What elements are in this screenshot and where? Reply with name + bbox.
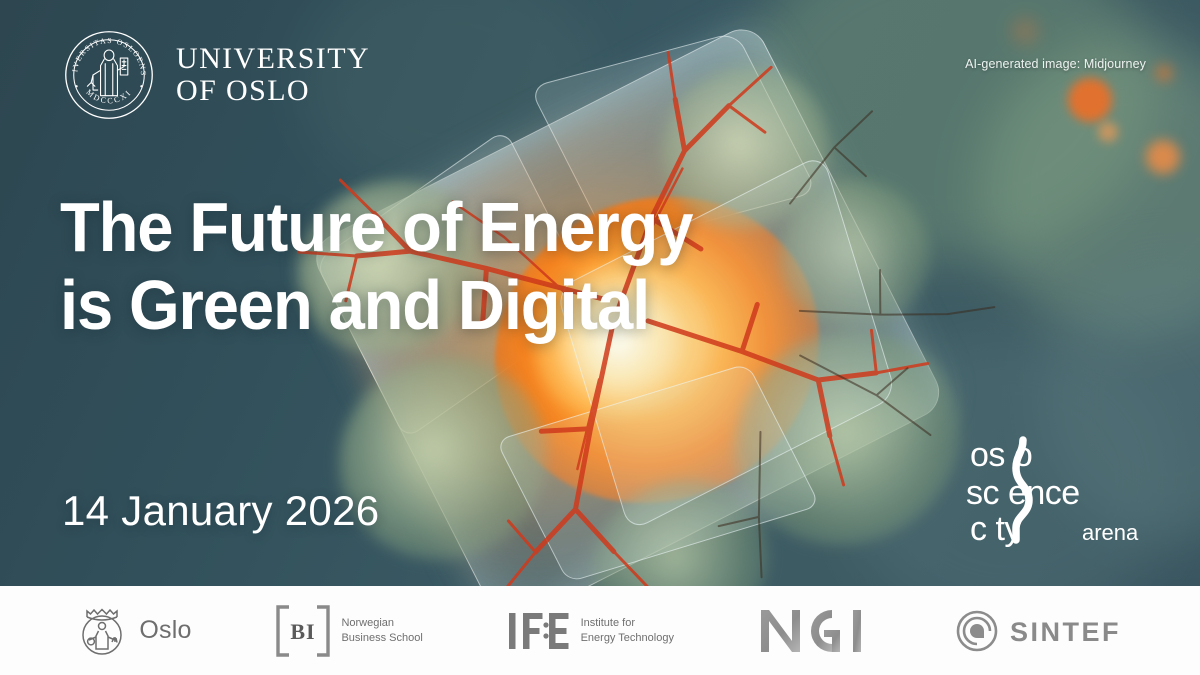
partner-logo-ife[interactable]: Institute for Energy Technology <box>508 611 674 651</box>
svg-text:BI: BI <box>291 619 316 644</box>
partner-label-oslo: Oslo <box>139 616 191 645</box>
partner-logo-bi[interactable]: BI Norwegian Business School <box>276 605 422 657</box>
svg-text:MDCCCXI: MDCCCXI <box>84 88 133 106</box>
oslo-science-city-arena-logo: os o sc ence c ty arena <box>966 436 1156 548</box>
bokeh-orange-5 <box>1012 18 1038 44</box>
bokeh-orange-3 <box>1098 122 1118 142</box>
sintef-wordmark: SINTEF <box>1010 617 1121 647</box>
university-of-oslo-logo: UNIVERSITAS OSLOENSIS MDCCCXI <box>62 28 370 122</box>
bi-bracket-icon: BI <box>276 605 330 657</box>
uio-seal-icon: UNIVERSITAS OSLOENSIS MDCCCXI <box>62 28 156 122</box>
partner-logo-bar: Oslo BI Norwegian Business School <box>0 586 1200 675</box>
partner-label-ife: Institute for Energy Technology <box>581 616 674 644</box>
oslo-coat-of-arms-icon <box>76 604 128 658</box>
partner-label-bi: Norwegian Business School <box>341 616 422 644</box>
partner-logo-oslo-kommune[interactable]: Oslo <box>76 604 191 658</box>
ngi-icon <box>759 608 871 654</box>
bokeh-orange-2 <box>1146 140 1180 174</box>
page-title: The Future of Energy is Green and Digita… <box>60 188 925 345</box>
event-poster: UNIVERSITAS OSLOENSIS MDCCCXI <box>0 0 1200 675</box>
osc-logo-icon: os o sc ence c ty arena <box>966 436 1156 548</box>
svg-text:arena: arena <box>1082 520 1139 545</box>
partner-logo-ngi[interactable] <box>759 608 871 654</box>
partner-logo-sintef[interactable]: SINTEF <box>956 610 1124 652</box>
bokeh-orange-1 <box>1068 78 1112 122</box>
sintef-spiral-icon: SINTEF <box>956 610 1124 652</box>
ife-icon <box>508 611 570 651</box>
hero-image: UNIVERSITAS OSLOENSIS MDCCCXI <box>0 0 1200 586</box>
uio-wordmark: UNIVERSITY OF OSLO <box>176 43 370 108</box>
image-credit: AI-generated image: Midjourney <box>965 57 1146 71</box>
event-date: 14 January 2026 <box>62 487 379 535</box>
bokeh-orange-4 <box>1155 64 1173 82</box>
